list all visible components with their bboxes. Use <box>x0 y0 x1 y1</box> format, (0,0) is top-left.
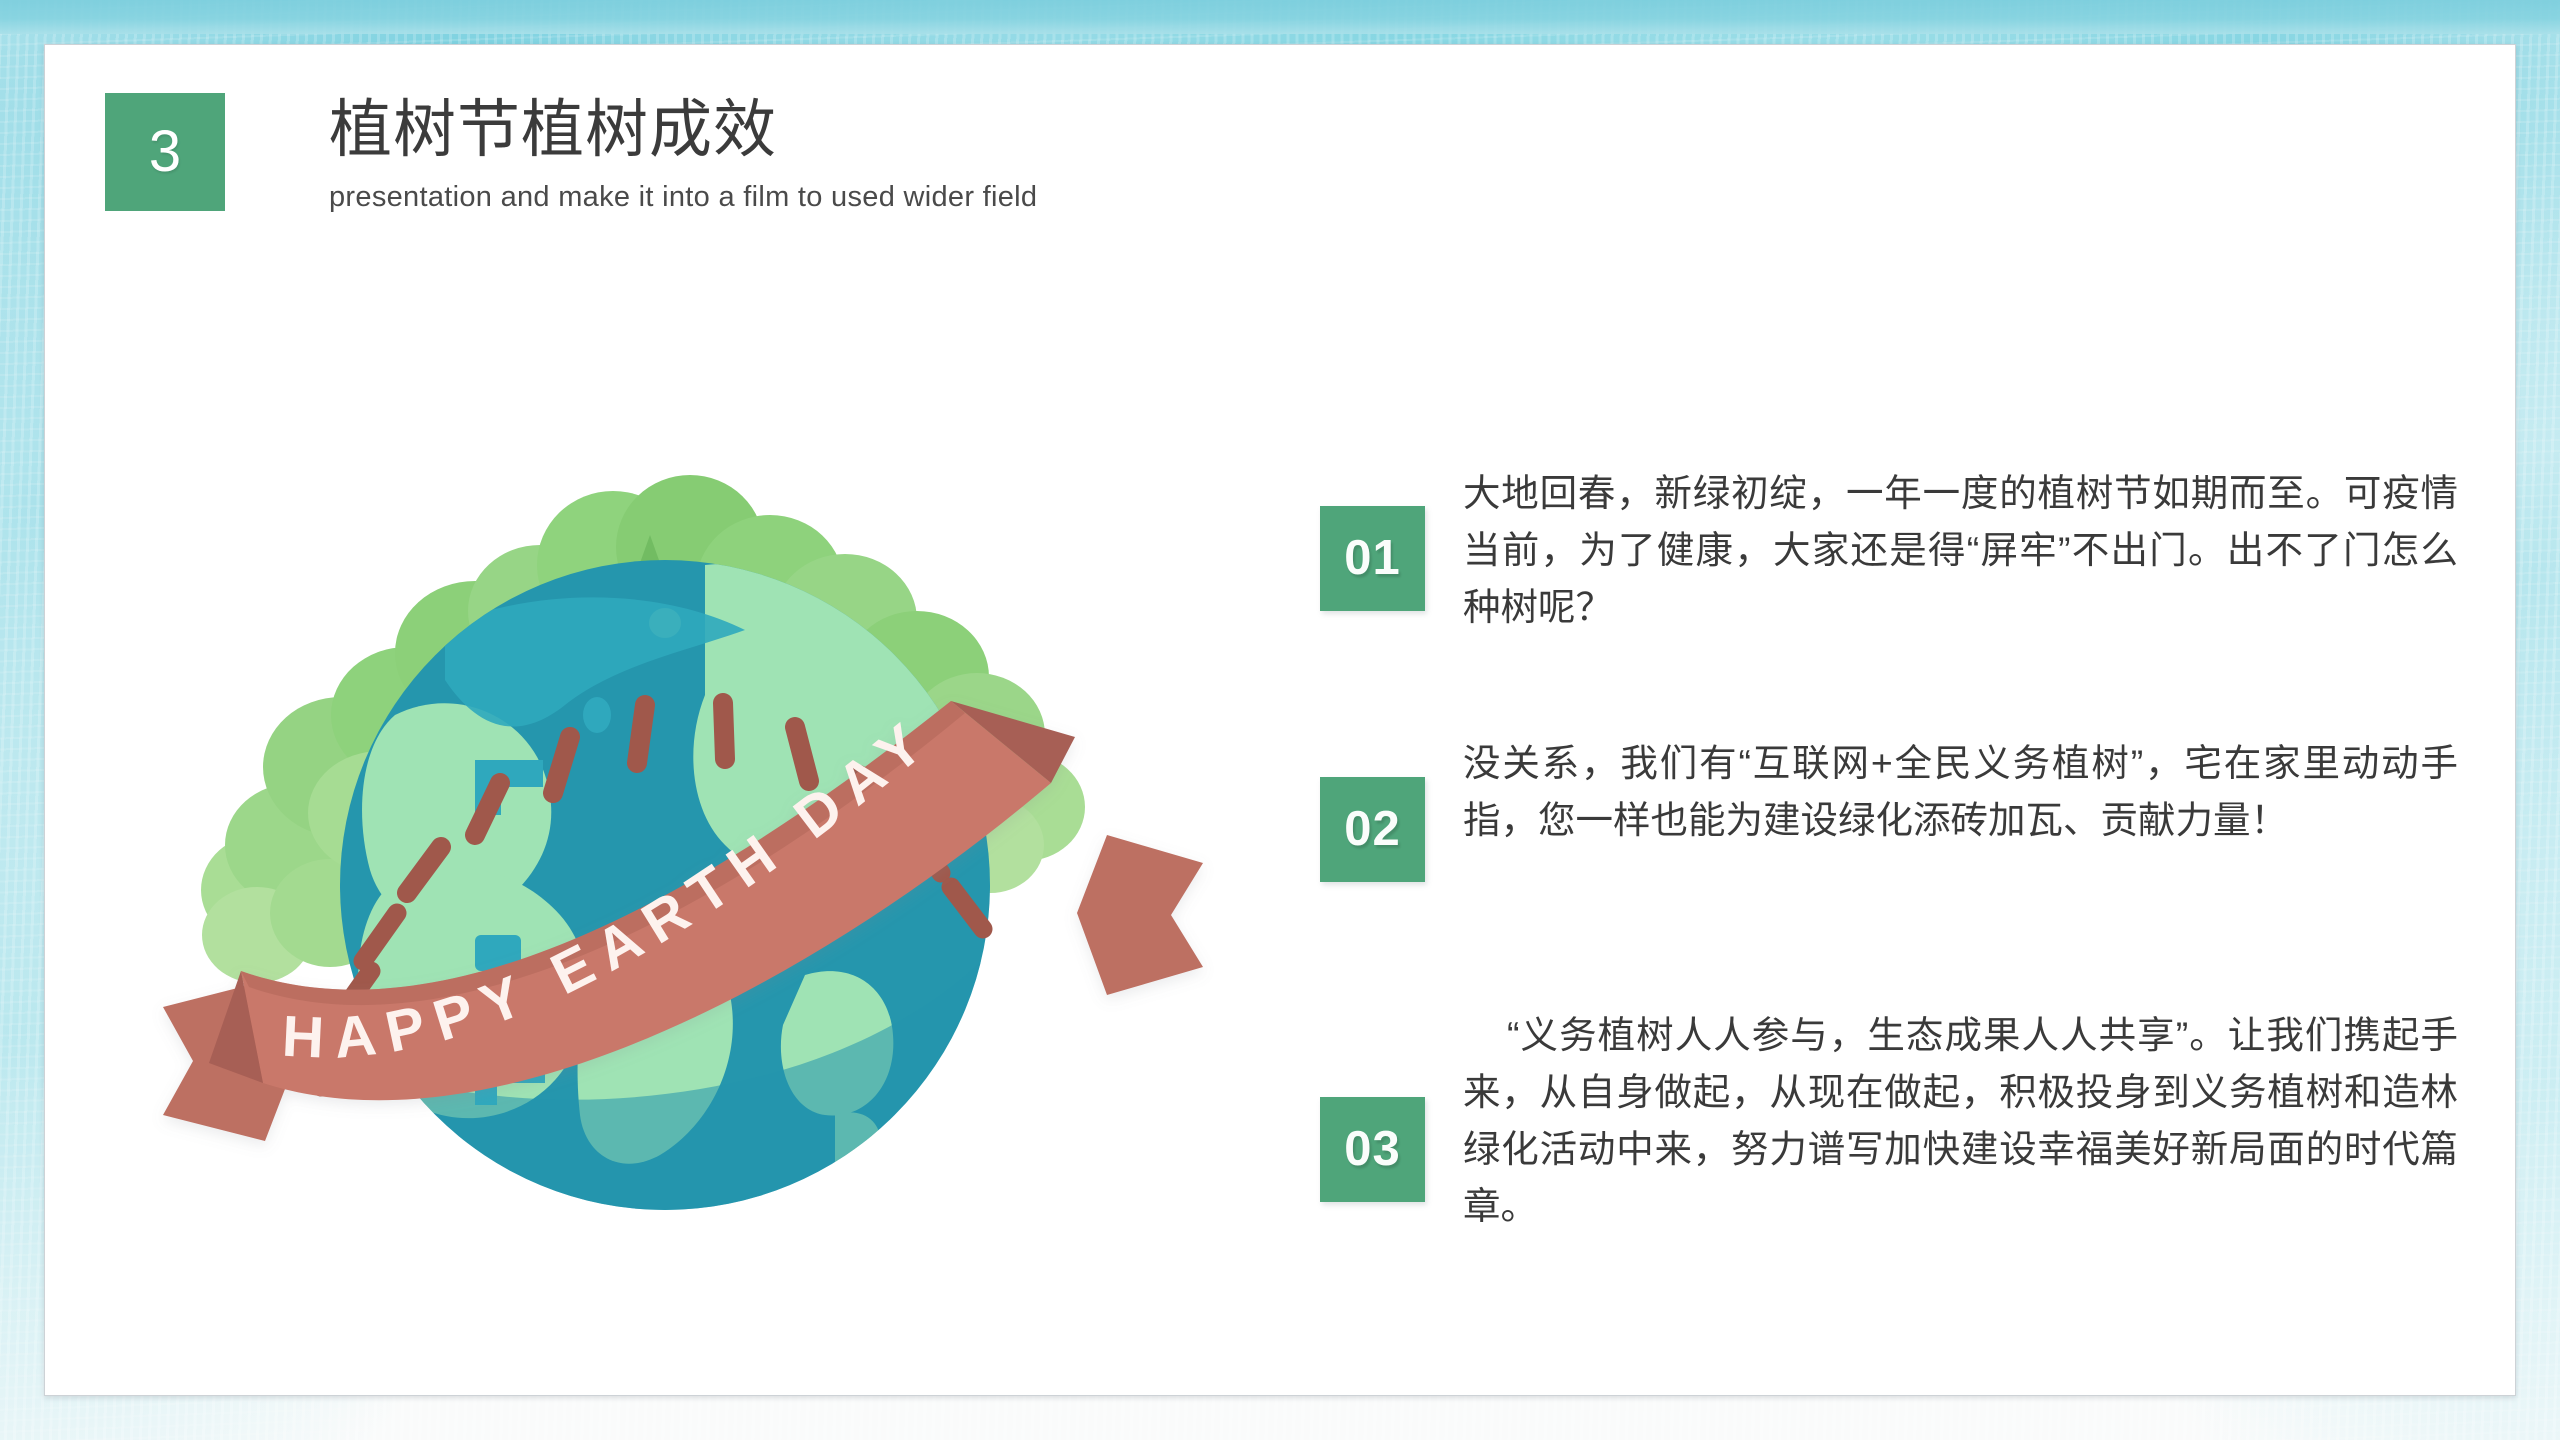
bullet-number-label-02: 02 <box>1344 805 1401 854</box>
bullet-number-badge-01: 01 <box>1320 506 1425 611</box>
bullet-item-03: 03 “义务植树人人参与，生态成果人人共享”。让我们携起手来，从自身做起，从现在… <box>1320 1007 2458 1235</box>
bullet-number-badge-03: 03 <box>1320 1097 1425 1202</box>
bullet-text-02: 没关系，我们有“互联网+全民义务植树”，宅在家里动动手指，您一样也能为建设绿化添… <box>1463 735 2458 849</box>
bullet-text-01: 大地回春，新绿初绽，一年一度的植树节如期而至。可疫情当前，为了健康，大家还是得“… <box>1463 465 2458 636</box>
bullet-text-03: “义务植树人人参与，生态成果人人共享”。让我们携起手来，从自身做起，从现在做起，… <box>1463 1007 2458 1235</box>
bullet-number-label-01: 01 <box>1344 534 1401 583</box>
page-subtitle: presentation and make it into a film to … <box>329 181 1037 214</box>
bullet-number-label-03: 03 <box>1344 1125 1401 1174</box>
bullet-item-01: 01 大地回春，新绿初绽，一年一度的植树节如期而至。可疫情当前，为了健康，大家还… <box>1320 465 2458 636</box>
title-block: 植树节植树成效 presentation and make it into a … <box>329 97 1037 214</box>
page-title: 植树节植树成效 <box>329 97 1037 163</box>
bullet-item-02: 02 没关系，我们有“互联网+全民义务植树”，宅在家里动动手指，您一样也能为建设… <box>1320 735 2458 882</box>
slide-card: 3 植树节植树成效 presentation and make it into … <box>44 44 2516 1396</box>
earth-day-illustration: HAPPY EARTH DAY <box>145 415 1265 1295</box>
top-watercolor-band <box>0 0 2560 34</box>
earth-day-globe-svg: HAPPY EARTH DAY <box>145 415 1265 1295</box>
bullet-number-badge-02: 02 <box>1320 777 1425 882</box>
section-number-badge: 3 <box>105 93 225 211</box>
section-number-label: 3 <box>149 123 181 181</box>
